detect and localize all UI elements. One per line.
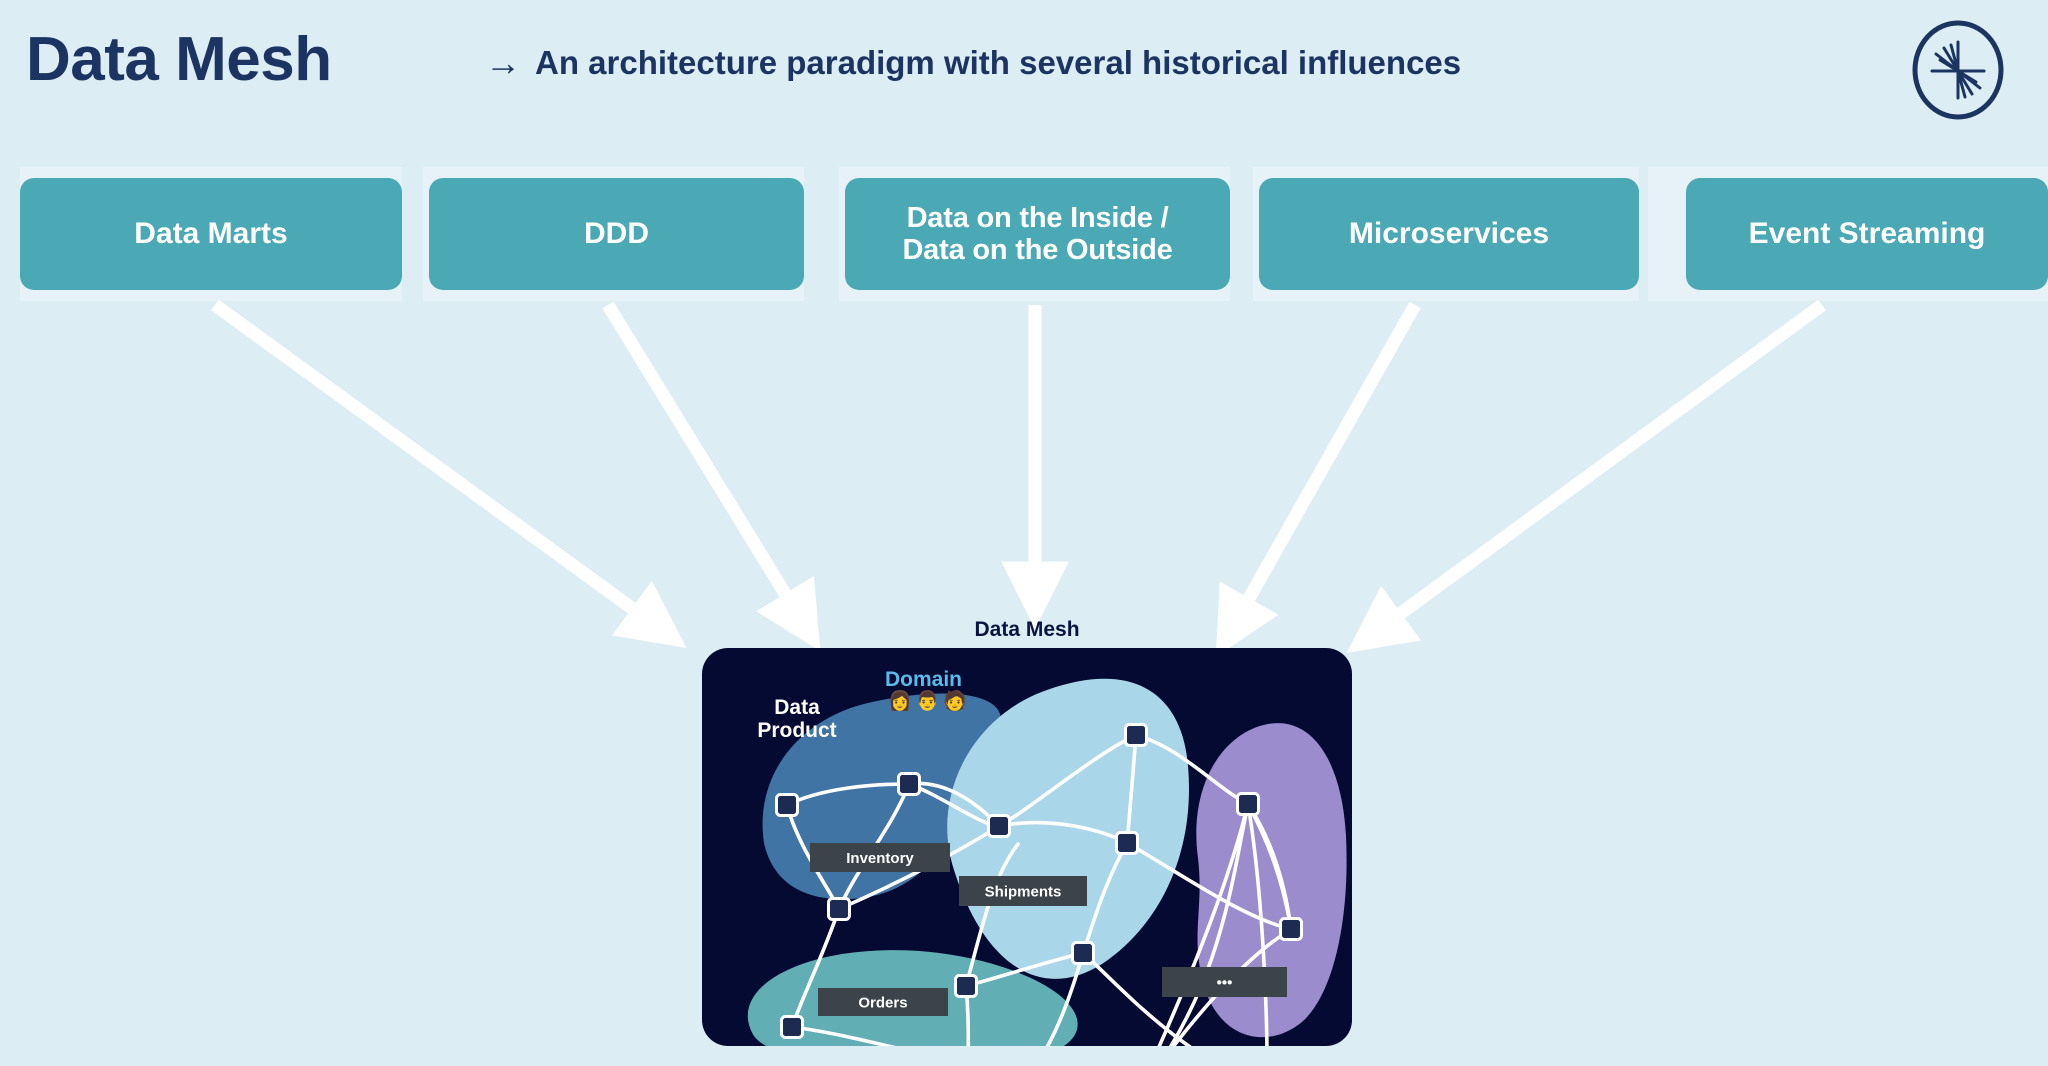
mesh-node-n3[interactable] [829,899,850,920]
mesh-node-n6[interactable] [1117,833,1138,854]
mesh-node-n9[interactable] [782,1017,803,1038]
tag-shipments-label: Shipments [985,884,1062,901]
mesh-node-n12[interactable] [1281,919,1302,940]
arrow-ddd [608,305,800,618]
card-inside-outside[interactable]: Data on the Inside /Data on the Outside [845,178,1230,290]
mesh-node-n2[interactable] [899,774,920,795]
mesh-node-n4[interactable] [989,816,1010,837]
card-label-ddd: DDD [584,217,649,251]
data-mesh-diagram-panel: InventoryShipmentsOrders••• [702,648,1352,1046]
page-subtitle-group: → An architecture paradigm with several … [485,44,1461,82]
page-title: Data Mesh [26,24,332,95]
card-ddd[interactable]: DDD [429,178,804,290]
card-label-inside-outside: Data on the Inside /Data on the Outside [902,202,1172,267]
person-icon: 👩 [888,692,912,711]
page-header: Data Mesh → An architecture paradigm wit… [0,0,2048,140]
mesh-node-n5[interactable] [1126,725,1147,746]
arrow-data-marts [215,305,655,625]
right-arrow-icon: → [485,45,521,81]
tag-orders-label: Orders [858,995,907,1012]
starburst-circle-icon [1908,20,2008,120]
arrow-event-streaming [1378,305,1822,630]
card-data-marts[interactable]: Data Marts [20,178,402,290]
person-icon: 👨 [916,692,940,711]
diagram-caption: Data Mesh [702,618,1352,642]
mesh-node-n7[interactable] [956,976,977,997]
card-label-microservices: Microservices [1349,217,1549,251]
card-microservices[interactable]: Microservices [1259,178,1639,290]
card-label-data-marts: Data Marts [134,217,287,251]
mesh-node-n8[interactable] [1073,943,1094,964]
tag-inventory-label: Inventory [846,850,914,867]
people-icons-group: 👩 👨 🧑 [888,692,967,711]
card-label-event-streaming: Event Streaming [1749,217,1986,251]
tag-ellipsis-label: ••• [1217,975,1233,992]
page-subtitle: An architecture paradigm with several hi… [535,44,1461,82]
person-icon: 🧑 [943,692,967,711]
arrow-microservices [1235,305,1415,623]
card-event-streaming[interactable]: Event Streaming [1686,178,2048,290]
mesh-node-n1[interactable] [777,795,798,816]
mesh-node-n11[interactable] [1238,794,1259,815]
